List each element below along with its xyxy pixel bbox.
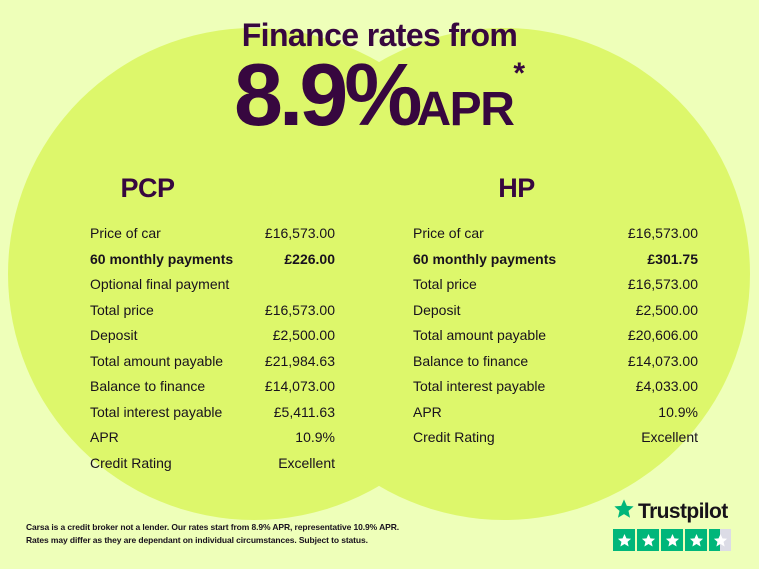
plan-row-value: £16,573.00 [628, 225, 698, 243]
plan-row-value: £16,573.00 [265, 302, 335, 320]
trustpilot-star-icon [685, 529, 707, 551]
plan-row-value: £301.75 [647, 251, 698, 269]
plan-row-label: APR [413, 404, 442, 422]
plan-row: Balance to finance£14,073.00 [90, 374, 335, 400]
plan-row-value: £2,500.00 [636, 302, 698, 320]
plan-row: Total interest payable£4,033.00 [413, 374, 698, 400]
plan-heading-hp: HP [379, 173, 758, 204]
headline-asterisk: * [513, 59, 525, 89]
disclaimer-line-1: Carsa is a credit broker not a lender. O… [26, 521, 446, 534]
plan-row-label: APR [90, 429, 119, 447]
plan-row-value: £4,033.00 [636, 378, 698, 396]
plan-row-label: Total interest payable [90, 404, 222, 422]
plan-row: APR10.9% [413, 400, 698, 426]
plan-row-value: Excellent [641, 429, 698, 447]
plan-row-value: 10.9% [658, 404, 698, 422]
plan-row: Deposit£2,500.00 [413, 298, 698, 324]
trustpilot-star-rating [613, 529, 737, 551]
plan-row: Total price£16,573.00 [413, 272, 698, 298]
plan-row: Credit RatingExcellent [413, 425, 698, 451]
plan-row-value: £20,606.00 [628, 327, 698, 345]
plan-row: Total price£16,573.00 [90, 298, 335, 324]
headline-rate-value: 8.9% [234, 51, 419, 139]
trustpilot-star-icon [661, 529, 683, 551]
plan-row-label: Balance to finance [90, 378, 205, 396]
plan-row: 60 monthly payments£226.00 [90, 247, 335, 273]
headline-apr-label: APR [417, 86, 514, 134]
plan-row-value: £16,573.00 [628, 276, 698, 294]
plan-row-label: 60 monthly payments [90, 251, 233, 269]
plan-row-label: Total price [90, 302, 154, 320]
plan-row-value: £14,073.00 [265, 378, 335, 396]
plan-rows-hp: Price of car£16,573.0060 monthly payment… [379, 221, 758, 451]
plan-row-value: £21,984.63 [265, 353, 335, 371]
plan-row: Optional final payment [90, 272, 335, 298]
plan-row-label: Price of car [90, 225, 161, 243]
plan-row-value: £14,073.00 [628, 353, 698, 371]
plan-row: 60 monthly payments£301.75 [413, 247, 698, 273]
trustpilot-star-icon [637, 529, 659, 551]
plan-heading-pcp: PCP [0, 173, 379, 204]
plan-row-value: £16,573.00 [265, 225, 335, 243]
plan-row-label: Credit Rating [413, 429, 495, 447]
trustpilot-rating: Trustpilot [613, 498, 737, 551]
plan-row: Total amount payable£21,984.63 [90, 349, 335, 375]
plan-row-label: Total price [413, 276, 477, 294]
plan-row: Price of car£16,573.00 [90, 221, 335, 247]
plan-row: Total interest payable£5,411.63 [90, 400, 335, 426]
plan-row-label: Optional final payment [90, 276, 229, 294]
headline-rate-row: 8.9% APR * [0, 51, 759, 139]
plan-row-value: £5,411.63 [274, 404, 335, 422]
plan-row: Balance to finance£14,073.00 [413, 349, 698, 375]
plan-row: Deposit£2,500.00 [90, 323, 335, 349]
footer: Carsa is a credit broker not a lender. O… [0, 477, 759, 569]
plan-row-label: Total amount payable [413, 327, 546, 345]
plan-row-label: Balance to finance [413, 353, 528, 371]
finance-plan-comparison: PCP Price of car£16,573.0060 monthly pay… [0, 173, 759, 476]
trustpilot-logo: Trustpilot [613, 498, 737, 525]
plan-row: Total amount payable£20,606.00 [413, 323, 698, 349]
trustpilot-star-icon [709, 529, 731, 551]
plan-row-label: Deposit [413, 302, 460, 320]
plan-row-label: Price of car [413, 225, 484, 243]
plan-rows-pcp: Price of car£16,573.0060 monthly payment… [0, 221, 379, 476]
plan-row-value: £2,500.00 [273, 327, 335, 345]
plan-row-label: Total interest payable [413, 378, 545, 396]
trustpilot-name: Trustpilot [638, 500, 728, 524]
disclaimer-line-2: Rates may differ as they are dependant o… [26, 534, 446, 547]
plan-row-value: 10.9% [295, 429, 335, 447]
plan-column-pcp: PCP Price of car£16,573.0060 monthly pay… [0, 173, 379, 476]
promo-card: Finance rates from 8.9% APR * PCP Price … [0, 0, 759, 569]
plan-row: Price of car£16,573.00 [413, 221, 698, 247]
plan-row: Credit RatingExcellent [90, 451, 335, 477]
plan-row-label: Total amount payable [90, 353, 223, 371]
plan-row-value: Excellent [278, 455, 335, 473]
plan-row: APR10.9% [90, 425, 335, 451]
headline-block: Finance rates from 8.9% APR * [0, 0, 759, 139]
disclaimer-text: Carsa is a credit broker not a lender. O… [26, 521, 446, 547]
plan-column-hp: HP Price of car£16,573.0060 monthly paym… [379, 173, 758, 476]
plan-row-label: Credit Rating [90, 455, 172, 473]
trustpilot-star-icon [613, 529, 635, 551]
plan-row-value: £226.00 [284, 251, 335, 269]
plan-row-label: Deposit [90, 327, 137, 345]
plan-row-label: 60 monthly payments [413, 251, 556, 269]
trustpilot-star-icon [613, 498, 635, 525]
